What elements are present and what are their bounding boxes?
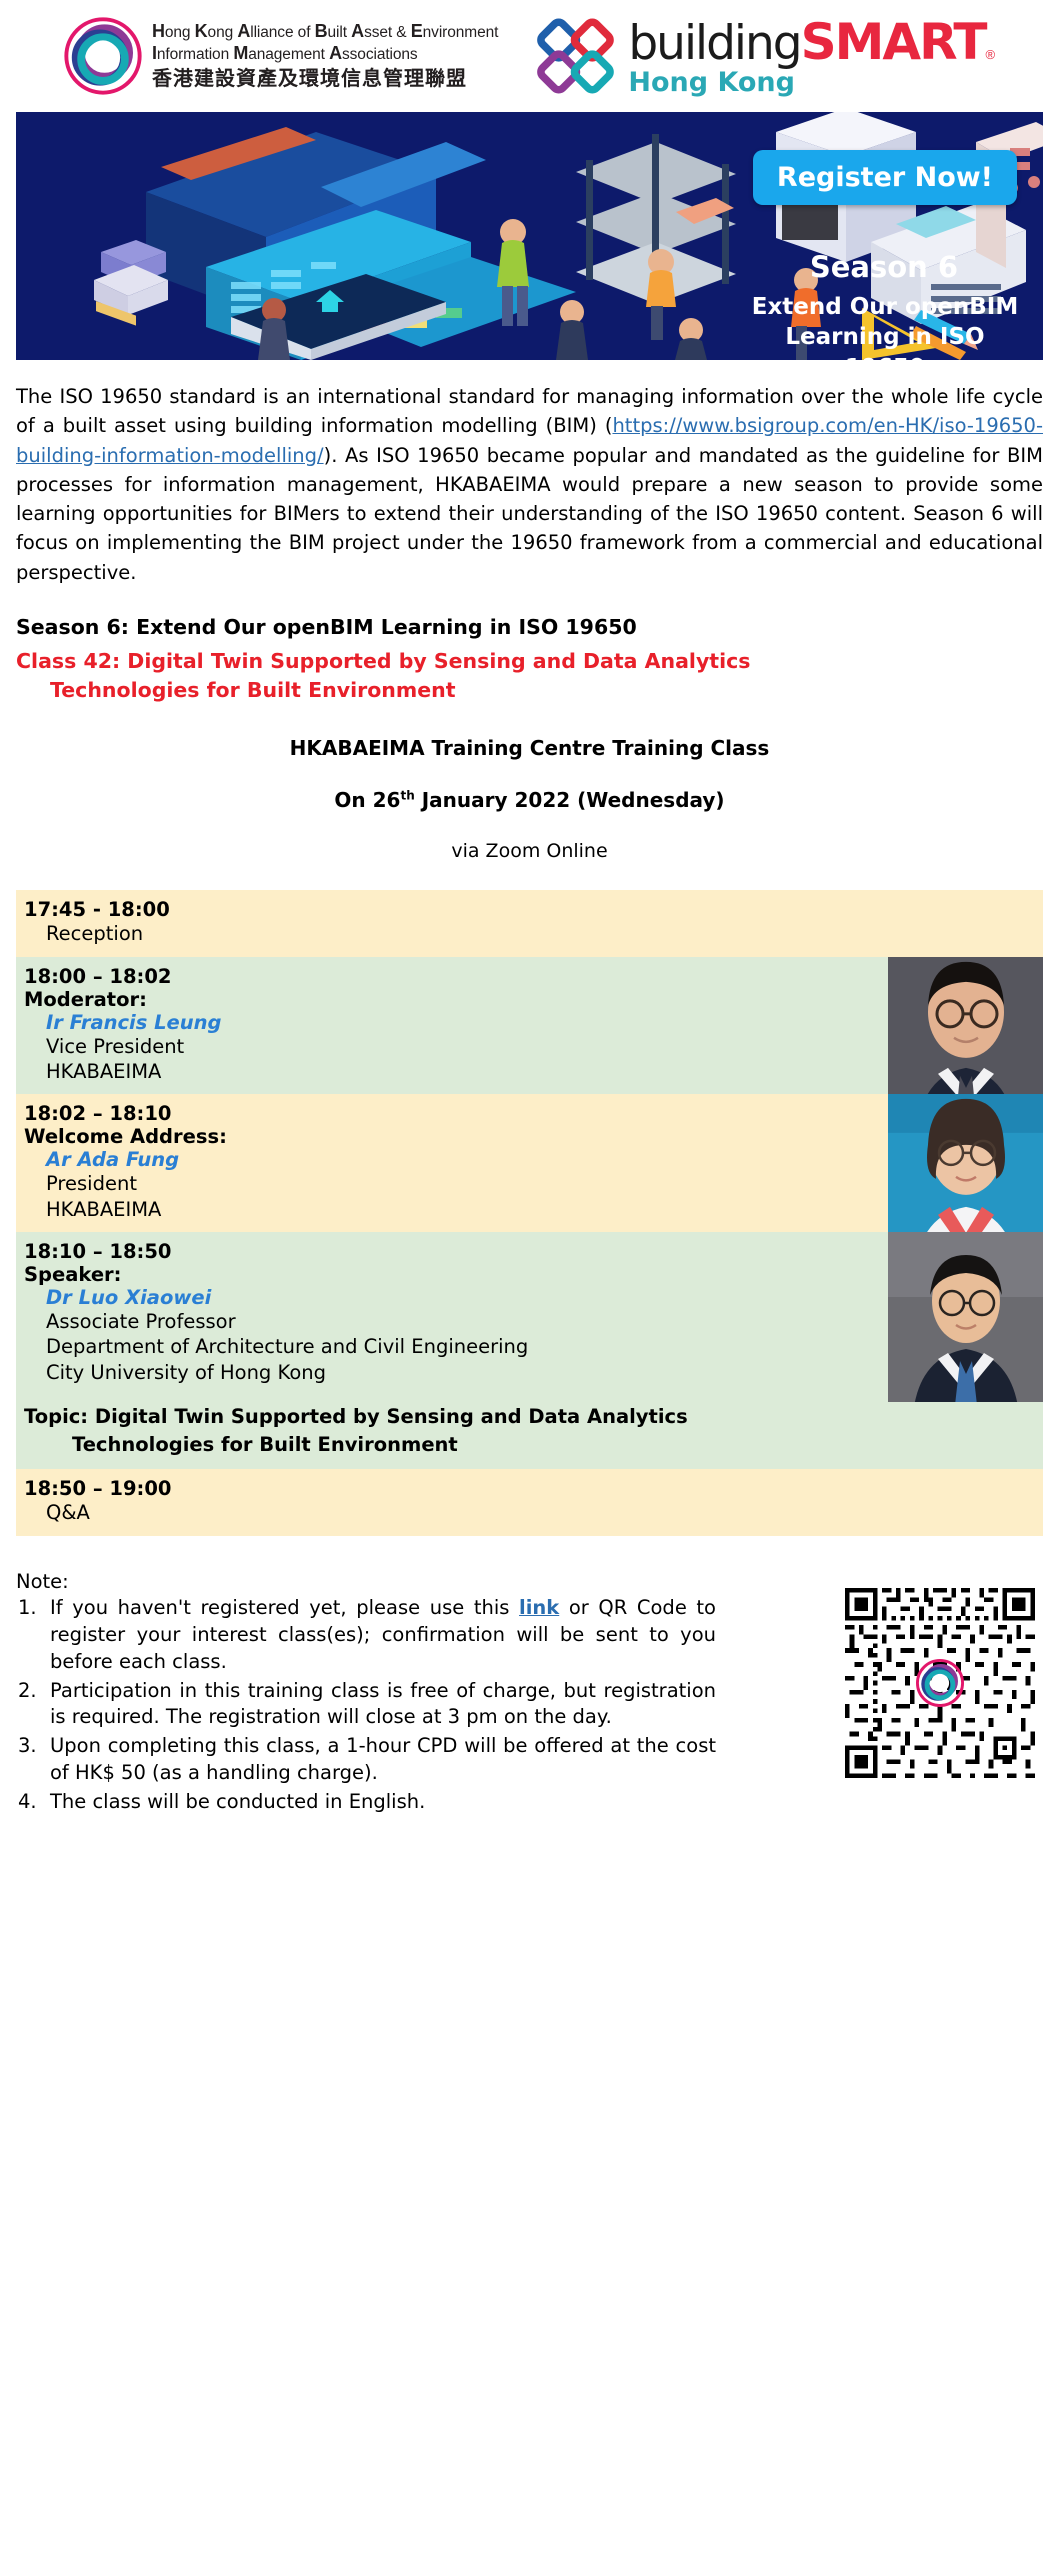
row-time: 18:50 – 19:00 [16, 1477, 1043, 1500]
buildingsmart-wordmark: buildingSMART® Hong Kong [628, 17, 995, 96]
portrait-luo-xiaowei [888, 1232, 1043, 1402]
intro-paragraph: The ISO 19650 standard is an internation… [16, 382, 1043, 587]
class-heading-line2: Technologies for Built Environment [16, 676, 1043, 706]
row-topic-line1: Topic: Digital Twin Supported by Sensing… [24, 1405, 688, 1428]
table-row: 18:10 – 18:50 Speaker: Dr Luo Xiaowei As… [16, 1232, 1043, 1470]
registered-trademark-icon: ® [985, 48, 995, 61]
hkabaeima-logo: Hong Kong Alliance of Built Asset & Envi… [64, 17, 498, 95]
registration-qr-code[interactable] [845, 1588, 1035, 1778]
flyer-page: Hong Kong Alliance of Built Asset & Envi… [0, 0, 1059, 1816]
banner-season-subtitle: Extend Our openBIM Learning in ISO 19650 [745, 292, 1025, 360]
banner-subtitle-line2: Learning in ISO 19650 [785, 324, 984, 360]
training-centre-line: HKABAEIMA Training Centre Training Class [0, 736, 1059, 760]
register-now-button[interactable]: Register Now! [753, 150, 1017, 205]
event-date-suffix: January 2022 (Wednesday) [415, 788, 725, 812]
banner-season-title: Season 6 [759, 250, 1009, 284]
class-heading: Class 42: Digital Twin Supported by Sens… [16, 647, 1043, 706]
row-topic: Topic: Digital Twin Supported by Sensing… [16, 1403, 1043, 1460]
table-row: 17:45 - 18:00 Reception [16, 890, 1043, 956]
event-venue-line: via Zoom Online [0, 840, 1059, 862]
event-date-ordinal: th [400, 789, 414, 803]
qr-center-logo-icon [916, 1659, 964, 1707]
table-row: 18:50 – 19:00 Q&A [16, 1469, 1043, 1535]
table-row: 18:00 – 18:02 Moderator: Ir Francis Leun… [16, 957, 1043, 1095]
event-date-line: On 26th January 2022 (Wednesday) [0, 788, 1059, 812]
hkabaeima-wordmark: Hong Kong Alliance of Built Asset & Envi… [152, 21, 498, 91]
buildingsmart-region: Hong Kong [628, 69, 995, 96]
list-item: Participation in this training class is … [16, 1678, 716, 1732]
list-item: The class will be conducted in English. [16, 1789, 716, 1816]
org-line-2: Information Management Associations [152, 46, 418, 63]
event-info: HKABAEIMA Training Centre Training Class… [0, 736, 1059, 862]
event-date-prefix: On 26 [334, 788, 400, 812]
buildingsmart-knot-icon [536, 14, 620, 98]
notes-section: Note: If you haven't registered yet, ple… [16, 1570, 1043, 1816]
row-detail: Q&A [16, 1500, 1043, 1525]
row-time: 17:45 - 18:00 [16, 898, 1043, 921]
class-heading-line1: Class 42: Digital Twin Supported by Sens… [16, 649, 751, 673]
event-banner: Register Now! Season 6 Extend Our openBI… [16, 112, 1043, 360]
schedule-table: 17:45 - 18:00 Reception 18:00 – 18:02 Mo… [16, 890, 1043, 1536]
season-heading: Season 6: Extend Our openBIM Learning in… [16, 615, 1043, 639]
hkabaeima-ring-icon [64, 17, 142, 95]
registration-link[interactable]: link [519, 1596, 559, 1619]
buildingsmart-logo: buildingSMART® Hong Kong [536, 14, 995, 98]
row-topic-line2: Technologies for Built Environment [24, 1431, 1043, 1459]
list-item: Upon completing this class, a 1-hour CPD… [16, 1733, 716, 1787]
list-item: If you haven't registered yet, please us… [16, 1595, 716, 1676]
buildingsmart-smart-text: SMART [801, 17, 986, 67]
org-chinese-name: 香港建設資產及環境信息管理聯盟 [152, 67, 498, 91]
portrait-francis-leung [888, 957, 1043, 1095]
portrait-ada-fung [888, 1094, 1043, 1232]
logo-bar: Hong Kong Alliance of Built Asset & Envi… [0, 0, 1059, 108]
row-detail: Reception [16, 921, 1043, 946]
buildingsmart-building-text: building [628, 20, 800, 67]
table-row: 18:02 – 18:10 Welcome Address: Ar Ada Fu… [16, 1094, 1043, 1232]
note1-text-a: If you haven't registered yet, please us… [50, 1596, 519, 1619]
banner-subtitle-line1: Extend Our openBIM [752, 294, 1018, 320]
org-line-1: Hong Kong Alliance of Built Asset & Envi… [152, 24, 498, 41]
